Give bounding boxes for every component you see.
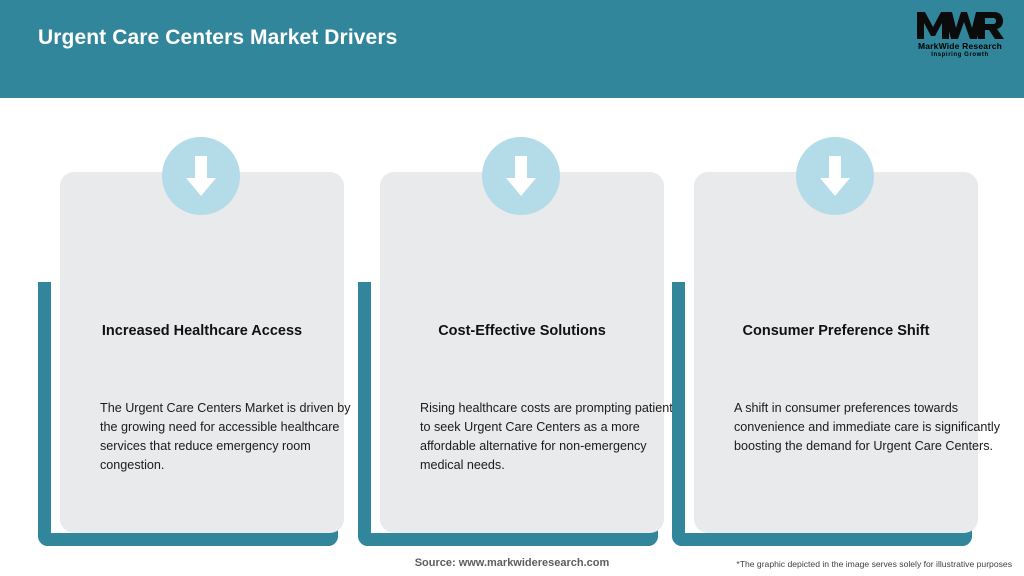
down-arrow-icon (796, 137, 874, 215)
card-description: Rising healthcare costs are prompting pa… (420, 399, 688, 475)
down-arrow-icon (162, 137, 240, 215)
driver-card-2: Cost-Effective Solutions Rising healthca… (358, 98, 658, 538)
logo-company-name: MarkWide Research (908, 41, 1012, 51)
logo-tagline: Inspiring Growth (908, 51, 1012, 59)
card-title: Consumer Preference Shift (694, 323, 978, 339)
card-surface: Cost-Effective Solutions Rising healthca… (380, 172, 664, 533)
card-title: Cost-Effective Solutions (380, 323, 664, 339)
card-title: Increased Healthcare Access (60, 323, 344, 339)
card-description: A shift in consumer preferences towards … (734, 399, 1002, 456)
driver-card-3: Consumer Preference Shift A shift in con… (672, 98, 972, 538)
disclaimer-label: *The graphic depicted in the image serve… (736, 559, 1012, 569)
drivers-card-row: Increased Healthcare Access The Urgent C… (0, 98, 1024, 538)
card-surface: Increased Healthcare Access The Urgent C… (60, 172, 344, 533)
down-arrow-icon (482, 137, 560, 215)
driver-card-1: Increased Healthcare Access The Urgent C… (38, 98, 338, 538)
mwr-monogram-icon (908, 10, 1012, 40)
card-description: The Urgent Care Centers Market is driven… (100, 399, 368, 475)
page-title: Urgent Care Centers Market Drivers (38, 26, 397, 50)
brand-logo: MarkWide Research Inspiring Growth (908, 10, 1012, 62)
header-bar: Urgent Care Centers Market Drivers MarkW… (0, 0, 1024, 98)
card-surface: Consumer Preference Shift A shift in con… (694, 172, 978, 533)
